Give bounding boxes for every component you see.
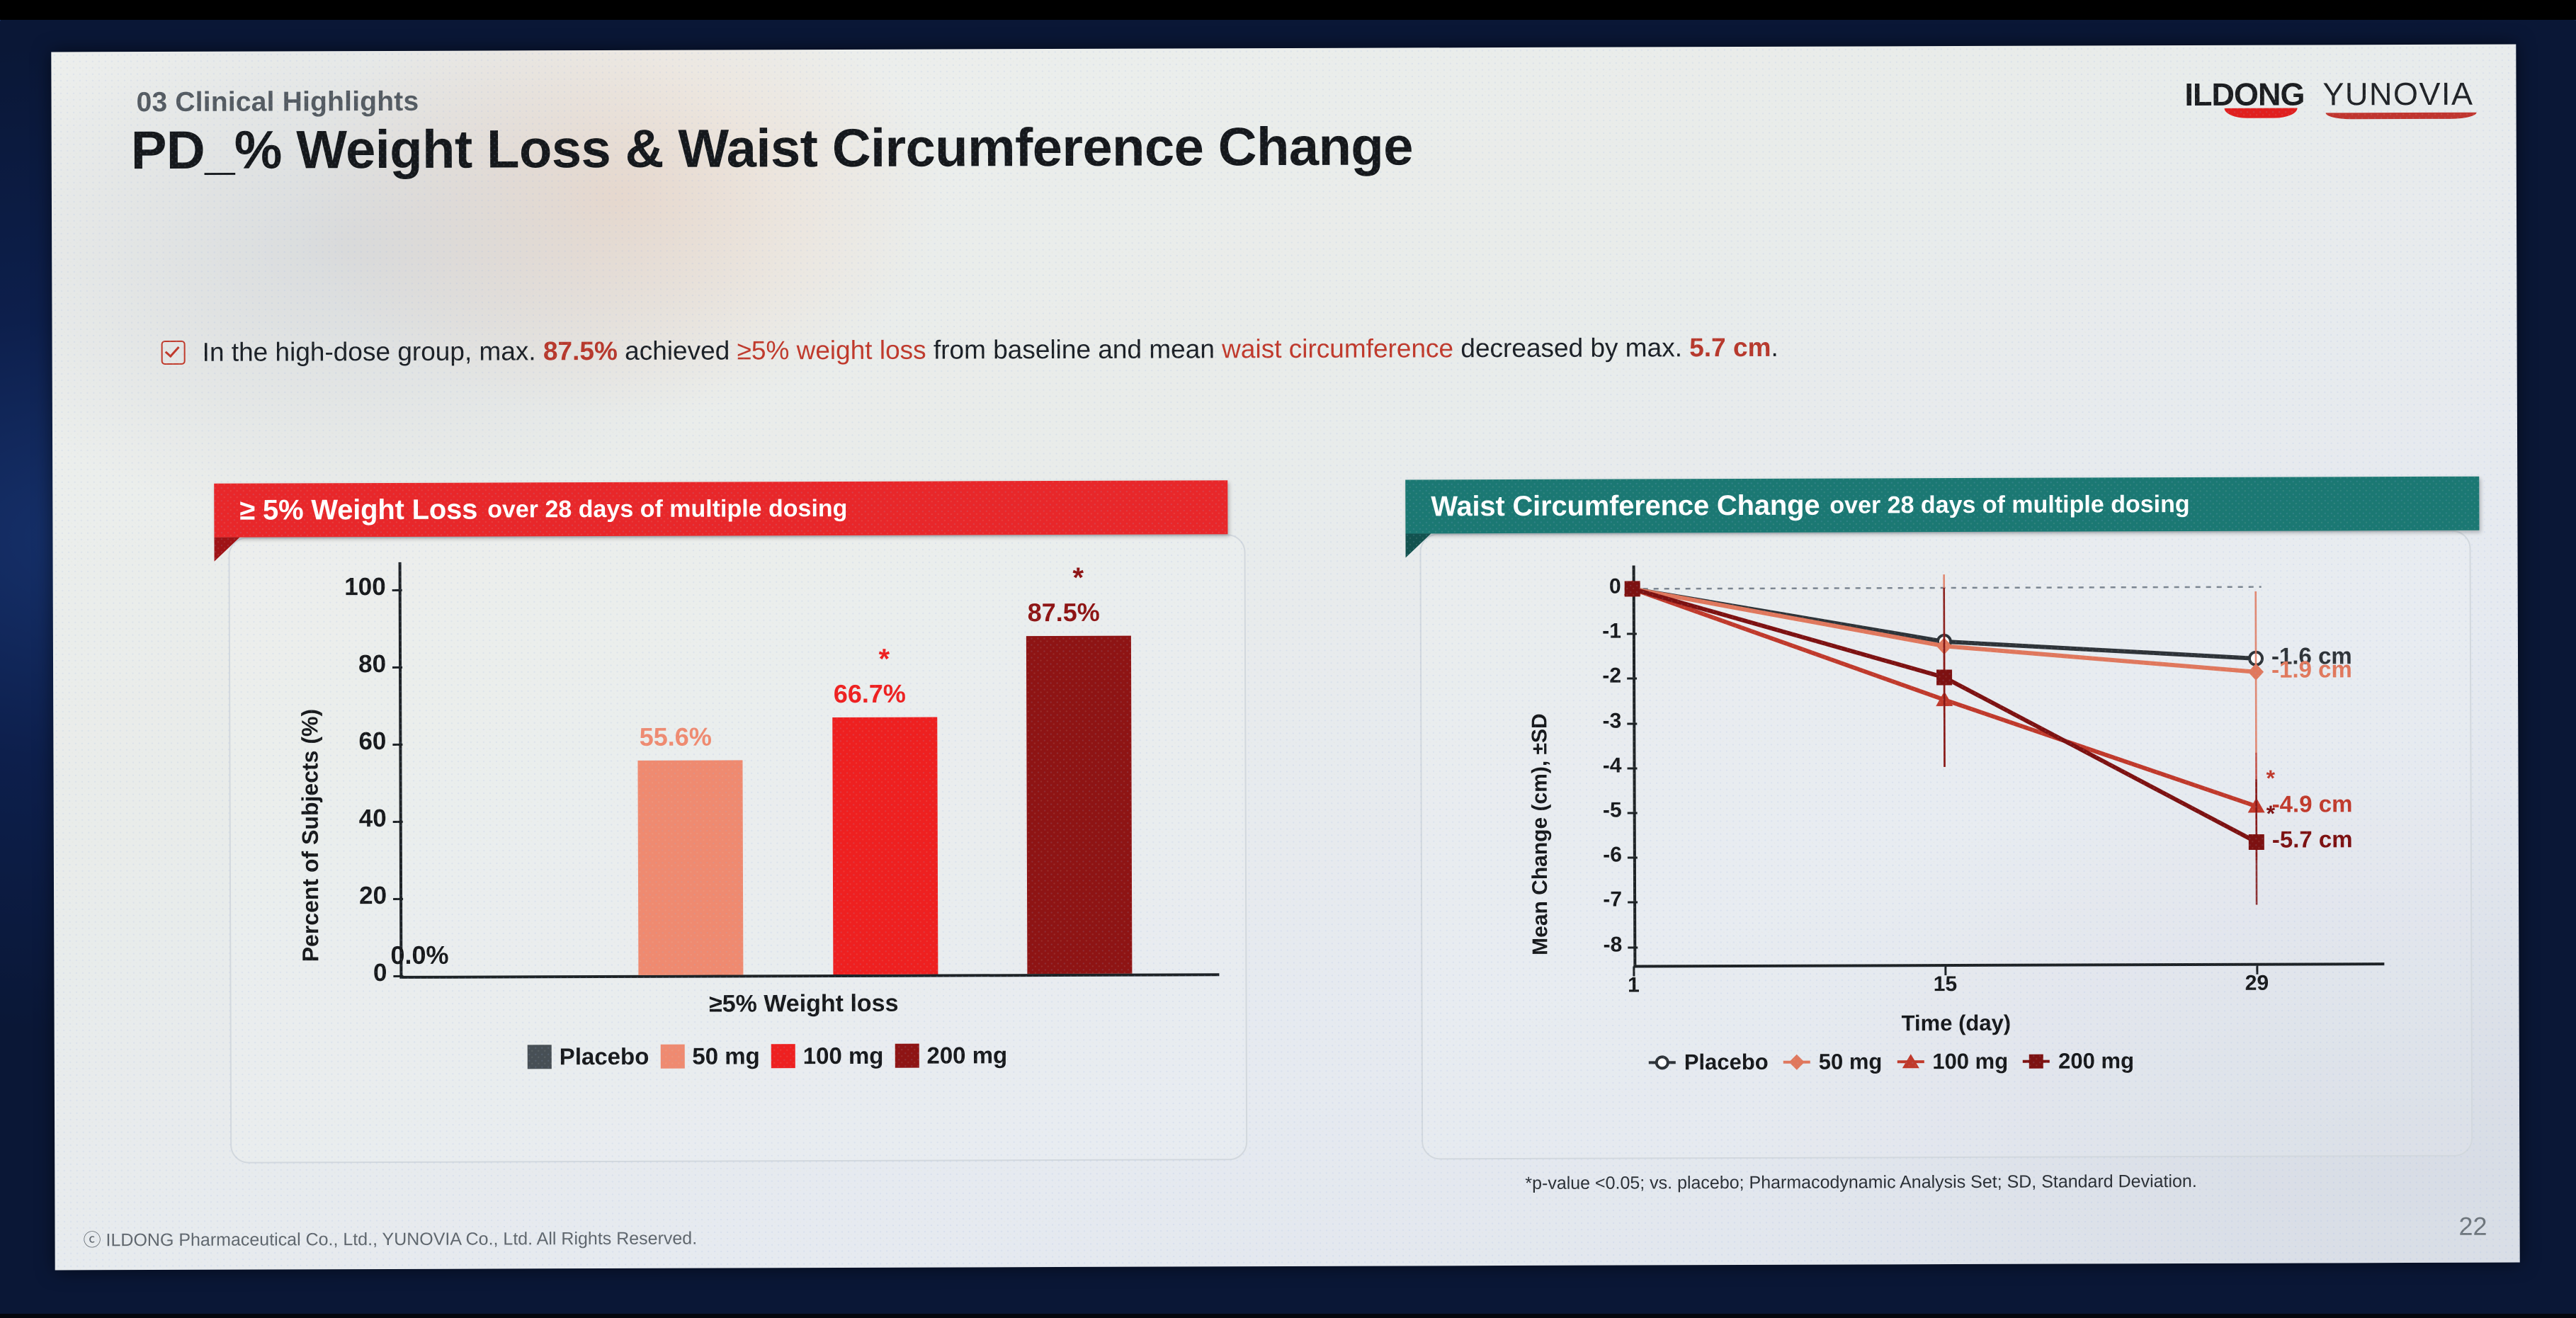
legend-label: 50 mg <box>692 1043 759 1069</box>
bullet-highlight-waist-circumference: waist circumference <box>1222 334 1453 363</box>
bar-chart-x-axis <box>399 973 1219 979</box>
bullet-highlight-weight-loss: ≥5% weight loss <box>737 336 926 365</box>
bar-200-mg <box>1026 636 1133 974</box>
page-title: PD_% Weight Loss & Waist Circumference C… <box>131 115 1413 181</box>
significance-asterisk: * <box>879 643 890 675</box>
top-letterbox-bar <box>0 0 2576 20</box>
bar-value-label: 55.6% <box>640 722 712 752</box>
legend-label: 100 mg <box>1932 1049 2008 1074</box>
legend-swatch-icon <box>771 1044 795 1068</box>
legend-swatch-icon <box>895 1044 919 1068</box>
statistics-footnote: *p-value <0.05; vs. placebo; Pharmacodyn… <box>1525 1171 2197 1194</box>
legend-label: Placebo <box>1684 1050 1769 1075</box>
presentation-slide: 03 Clinical Highlights PD_% Weight Loss … <box>51 45 2519 1271</box>
bar-100-mg <box>832 717 938 975</box>
bar-value-label: 66.7% <box>834 678 906 708</box>
legend-item-placebo[interactable]: Placebo <box>1648 1050 1769 1076</box>
legend-swatch-icon <box>660 1045 684 1069</box>
bar-chart-y-tick-label: 0 <box>323 959 387 987</box>
bar-chart-y-tick-mark <box>392 589 402 591</box>
endpoint-annotation-200-mg: -5.7 cm <box>2272 826 2353 853</box>
bullet-text-part-3: from baseline and mean <box>926 334 1222 364</box>
weight-loss-banner-bold: ≥ 5% Weight Loss <box>239 494 477 526</box>
legend-item-50-mg[interactable]: 50 mg <box>1783 1049 1883 1074</box>
company-logo: ILDONG YUNOVIA <box>2184 76 2473 113</box>
significance-asterisk: * <box>2266 765 2275 791</box>
bar-chart-y-tick-mark <box>393 898 403 900</box>
bullet-text-part-5: . <box>1771 333 1778 362</box>
legend-label: 100 mg <box>803 1043 884 1069</box>
significance-asterisk: * <box>2266 801 2276 827</box>
waist-banner-bold: Waist Circumference Change <box>1431 489 1820 523</box>
legend-label: 200 mg <box>926 1042 1007 1069</box>
bullet-text-part-2: achieved <box>618 336 737 365</box>
bar-chart-x-category-label: ≥5% Weight loss <box>709 990 899 1018</box>
bar-chart-y-tick-mark <box>393 821 403 823</box>
bar-chart-legend: Placebo50 mg100 mg200 mg <box>528 1042 1008 1070</box>
legend-marker-icon <box>1648 1052 1676 1073</box>
line-chart-legend: Placebo50 mg100 mg200 mg <box>1648 1048 2134 1075</box>
line-chart: Mean Change (cm), ±SD0-1-2-3-4-5-6-7-811… <box>1419 530 2470 1157</box>
yunovia-logo-swoosh-icon <box>2326 113 2477 120</box>
yunovia-logo: YUNOVIA <box>2322 76 2473 113</box>
legend-label: 50 mg <box>1819 1049 1883 1074</box>
waist-banner-rest: over 28 days of multiple dosing <box>1829 490 2189 519</box>
bar-chart-y-tick-mark <box>393 975 403 977</box>
copyright-notice: ⓒ ILDONG Pharmaceutical Co., Ltd., YUNOV… <box>84 1225 698 1252</box>
legend-item-200-mg[interactable]: 200 mg <box>2022 1048 2134 1074</box>
endpoint-annotation-100-mg: -4.9 cm <box>2272 790 2353 817</box>
bar-chart-y-tick-mark <box>392 744 402 746</box>
bar-value-label: 0.0% <box>390 941 448 970</box>
check-badge-icon <box>161 341 186 365</box>
legend-item-100-mg[interactable]: 100 mg <box>1896 1049 2008 1074</box>
bar-chart-y-tick-label: 100 <box>322 573 386 601</box>
legend-swatch-icon <box>528 1045 552 1069</box>
bar-value-label: 87.5% <box>1028 598 1100 627</box>
legend-marker-icon <box>1783 1052 1811 1073</box>
bar-50-mg <box>638 761 744 975</box>
legend-marker-icon <box>2022 1051 2050 1072</box>
bar-chart-y-axis-label: Percent of Subjects (%) <box>297 709 324 962</box>
bar-chart-y-tick-label: 60 <box>322 727 386 756</box>
bullet-text-part-4: decreased by max. <box>1453 333 1689 363</box>
bar-chart-y-tick-label: 40 <box>323 805 387 833</box>
weight-loss-banner: ≥ 5% Weight Loss over 28 days of multipl… <box>214 480 1227 537</box>
bar-chart-y-tick-label: 20 <box>323 882 387 910</box>
weight-loss-banner-rest: over 28 days of multiple dosing <box>487 494 847 523</box>
legend-item-50-mg[interactable]: 50 mg <box>660 1043 759 1069</box>
legend-label: Placebo <box>560 1043 649 1070</box>
bullet-highlight-87-5: 87.5% <box>543 336 618 365</box>
endpoint-annotation-50-mg: -1.9 cm <box>2271 656 2352 683</box>
legend-label: 200 mg <box>2058 1048 2134 1074</box>
waist-circumference-banner: Waist Circumference Change over 28 days … <box>1405 477 2479 534</box>
legend-item-200-mg[interactable]: 200 mg <box>895 1042 1007 1069</box>
page-number: 22 <box>2458 1212 2487 1242</box>
bullet-highlight-5-7cm: 5.7 cm <box>1689 333 1771 362</box>
bottom-letterbox-bar <box>0 1314 2576 1318</box>
photograph-of-projected-slide: 03 Clinical Highlights PD_% Weight Loss … <box>0 0 2576 1318</box>
section-eyebrow: 03 Clinical Highlights <box>136 86 419 118</box>
significance-asterisk: * <box>1072 562 1084 594</box>
legend-item-100-mg[interactable]: 100 mg <box>771 1043 884 1069</box>
legend-item-placebo[interactable]: Placebo <box>528 1043 649 1071</box>
bar-chart-y-axis <box>399 562 403 977</box>
line-chart-x-axis-label: Time (day) <box>1902 1011 2012 1036</box>
ildong-logo: ILDONG <box>2184 76 2304 113</box>
bar-chart: Percent of Subjects (%)0204060801000.0%5… <box>228 534 1244 1160</box>
key-message-bullet: In the high-dose group, max. 87.5% achie… <box>203 333 1778 368</box>
bullet-text-part-1: In the high-dose group, max. <box>203 336 543 367</box>
yunovia-logo-text: YUNOVIA <box>2322 76 2473 113</box>
legend-marker-icon <box>1896 1051 1924 1072</box>
bar-chart-y-tick-mark <box>392 666 402 669</box>
ildong-logo-arc-icon <box>2224 108 2297 118</box>
bar-chart-y-tick-label: 80 <box>322 650 386 678</box>
